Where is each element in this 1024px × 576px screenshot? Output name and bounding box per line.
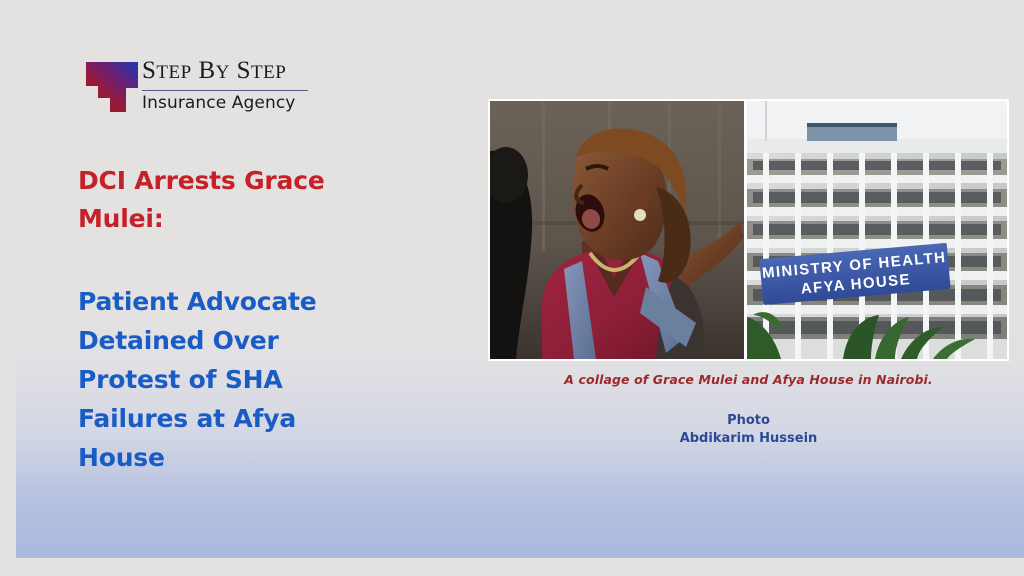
headline-red: DCI Arrests Grace Mulei: bbox=[78, 162, 378, 238]
photo-grace-mulei[interactable] bbox=[490, 101, 744, 359]
photo-caption: A collage of Grace Mulei and Afya House … bbox=[488, 372, 1009, 387]
photo-afya-house[interactable]: MINISTRY OF HEALTH AFYA HOUSE bbox=[747, 101, 1007, 359]
photo-credit: Photo Abdikarim Hussein bbox=[488, 412, 1009, 448]
step-blocks-mark-icon bbox=[84, 60, 140, 114]
photo-grace-mulei-image bbox=[490, 101, 744, 359]
photo-credit-label: Photo bbox=[488, 412, 1009, 430]
logo-title: STEP BY STEP bbox=[142, 56, 310, 89]
logo-divider-rule bbox=[142, 90, 308, 91]
photo-afya-house-image: MINISTRY OF HEALTH AFYA HOUSE bbox=[747, 101, 1007, 359]
slide-canvas: STEP BY STEP Insurance Agency DCI Arrest… bbox=[0, 0, 1024, 576]
company-logo[interactable]: STEP BY STEP Insurance Agency bbox=[84, 56, 310, 120]
logo-subtitle: Insurance Agency bbox=[142, 92, 310, 114]
logo-text-block: STEP BY STEP Insurance Agency bbox=[142, 56, 310, 114]
photo-credit-name: Abdikarim Hussein bbox=[488, 430, 1009, 448]
headline-blue: Patient Advocate Detained Over Protest o… bbox=[78, 282, 378, 477]
photo-collage[interactable]: MINISTRY OF HEALTH AFYA HOUSE bbox=[488, 99, 1009, 361]
